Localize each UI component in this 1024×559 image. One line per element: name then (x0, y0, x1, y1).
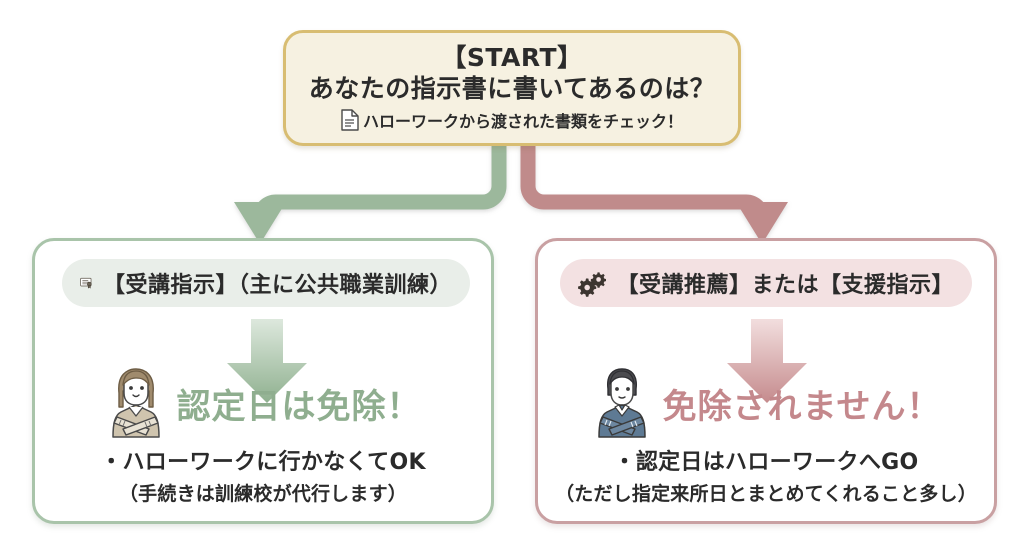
start-box-note: ハローワークから渡された書類をチェック！ (363, 108, 683, 132)
document-icon (341, 109, 359, 131)
man-crossed-arms-icon (591, 367, 653, 439)
bullet-block-left: ・ハローワークに行かなくてOK （手続きは訓練校が代行します） (35, 449, 491, 508)
sub-note-left: （手続きは訓練校が代行します） (35, 481, 491, 509)
certificate-icon (80, 270, 93, 296)
woman-crossed-arms-icon (105, 367, 167, 439)
result-row-left: 認定日は免除！ (35, 367, 491, 439)
sub-note-right: （ただし指定来所日とまとめてくれること多し） (538, 481, 994, 509)
branch-panel-left: 【受講指示】（主に公共職業訓練） 認定日は免除！ (32, 238, 494, 524)
connector-left (234, 146, 499, 244)
branch-header-right-label: 【受講推薦】または【支援指示】 (616, 267, 954, 299)
gears-icon (578, 269, 606, 297)
result-text-left: 認定日は免除！ (177, 379, 422, 428)
result-text-right: 免除されません！ (663, 379, 942, 428)
branch-header-right: 【受講推薦】または【支援指示】 (560, 259, 972, 307)
branch-panel-right: 【受講推薦】または【支援指示】 免除されません！ (535, 238, 997, 524)
start-box-label: 【START】 (441, 44, 582, 72)
bullet-left: ・ハローワークに行かなくてOK (35, 449, 491, 478)
start-box: 【START】 あなたの指示書に書いてあるのは？ ハローワークから渡された書類を… (283, 30, 741, 146)
result-row-right: 免除されません！ (538, 367, 994, 439)
branch-header-left: 【受講指示】（主に公共職業訓練） (62, 259, 470, 307)
branch-header-left-label: 【受講指示】（主に公共職業訓練） (103, 267, 452, 299)
start-box-note-row: ハローワークから渡された書類をチェック！ (341, 108, 683, 132)
bullet-block-right: ・認定日はハローワークへGO （ただし指定来所日とまとめてくれること多し） (538, 449, 994, 508)
connector-right (528, 146, 788, 244)
start-box-question: あなたの指示書に書いてあるのは？ (309, 73, 716, 104)
bullet-right: ・認定日はハローワークへGO (538, 449, 994, 478)
